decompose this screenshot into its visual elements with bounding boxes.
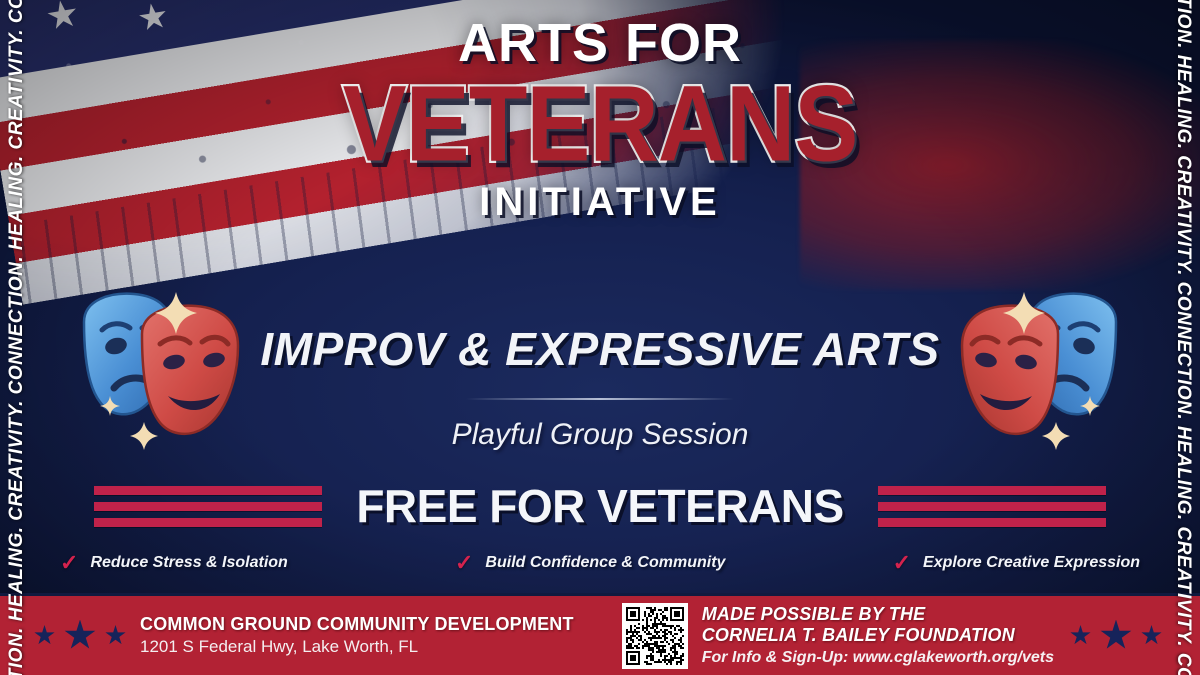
benefit-label: Build Confidence & Community bbox=[485, 554, 725, 572]
benefit-label: Explore Creative Expression bbox=[923, 554, 1140, 572]
comedy-mask-icon bbox=[142, 306, 238, 434]
benefit-item: ✓ Build Confidence & Community bbox=[455, 552, 725, 574]
sponsor-line-1: MADE POSSIBLE BY THE bbox=[702, 604, 1054, 625]
theatre-masks-right bbox=[932, 278, 1142, 468]
sponsor-block: MADE POSSIBLE BY THE CORNELIA T. BAILEY … bbox=[702, 604, 1054, 667]
stripe-bar bbox=[94, 502, 322, 511]
side-strip-right: CREATIVITY. CONNECTION. HEALING. CREATIV… bbox=[1166, 0, 1200, 675]
title-block: ARTS FOR VETERANS INITIATIVE bbox=[0, 16, 1200, 222]
star-icon bbox=[34, 625, 55, 646]
footer-bar: COMMON GROUND COMMUNITY DEVELOPMENT 1201… bbox=[0, 593, 1200, 675]
star-icon bbox=[1141, 625, 1162, 646]
title-arts-for: ARTS FOR bbox=[0, 16, 1200, 70]
side-strip-left: CREATIVITY. CONNECTION. HEALING. CREATIV… bbox=[0, 0, 34, 675]
benefits-list: ✓ Reduce Stress & Isolation ✓ Build Conf… bbox=[60, 552, 1140, 574]
side-text-left: CREATIVITY. CONNECTION. HEALING. CREATIV… bbox=[6, 0, 28, 675]
benefit-item: ✓ Reduce Stress & Isolation bbox=[60, 552, 288, 574]
organization-block: COMMON GROUND COMMUNITY DEVELOPMENT 1201… bbox=[140, 614, 574, 658]
star-icon bbox=[1100, 620, 1132, 652]
organization-name: COMMON GROUND COMMUNITY DEVELOPMENT bbox=[140, 614, 574, 636]
title-veterans: VETERANS bbox=[0, 72, 1200, 177]
side-text-right: CREATIVITY. CONNECTION. HEALING. CREATIV… bbox=[1172, 0, 1194, 675]
check-icon: ✓ bbox=[60, 552, 78, 574]
star-icon bbox=[105, 625, 126, 646]
benefit-item: ✓ Explore Creative Expression bbox=[893, 552, 1140, 574]
sponsor-line-2: CORNELIA T. BAILEY FOUNDATION bbox=[702, 625, 1054, 646]
stripe-bars-right bbox=[878, 486, 1106, 527]
stripe-bar bbox=[94, 486, 322, 495]
organization-address: 1201 S Federal Hwy, Lake Worth, FL bbox=[140, 637, 574, 657]
comedy-mask-icon bbox=[962, 306, 1058, 434]
headline-divider bbox=[466, 398, 734, 400]
qr-code-svg bbox=[626, 607, 684, 665]
stripe-bar bbox=[94, 518, 322, 527]
theatre-masks-left bbox=[58, 278, 268, 468]
stripe-bar bbox=[878, 518, 1106, 527]
star-icon bbox=[1070, 625, 1091, 646]
free-for-veterans-text: FREE FOR VETERANS bbox=[356, 479, 843, 533]
star-icon bbox=[64, 620, 96, 652]
stripe-bar bbox=[878, 486, 1106, 495]
check-icon: ✓ bbox=[455, 552, 473, 574]
check-icon: ✓ bbox=[893, 552, 911, 574]
stripe-bars-left bbox=[94, 486, 322, 527]
free-for-veterans-band: FREE FOR VETERANS bbox=[0, 478, 1200, 534]
masks-svg-left bbox=[58, 278, 268, 468]
signup-url[interactable]: For Info & Sign-Up: www.cglakeworth.org/… bbox=[702, 649, 1054, 668]
benefit-label: Reduce Stress & Isolation bbox=[90, 554, 287, 572]
qr-code[interactable] bbox=[622, 603, 688, 669]
poster-flyer: CREATIVITY. CONNECTION. HEALING. CREATIV… bbox=[0, 0, 1200, 675]
stripe-bar bbox=[878, 502, 1106, 511]
masks-svg-right bbox=[932, 278, 1142, 468]
title-initiative: INITIATIVE bbox=[0, 182, 1200, 222]
